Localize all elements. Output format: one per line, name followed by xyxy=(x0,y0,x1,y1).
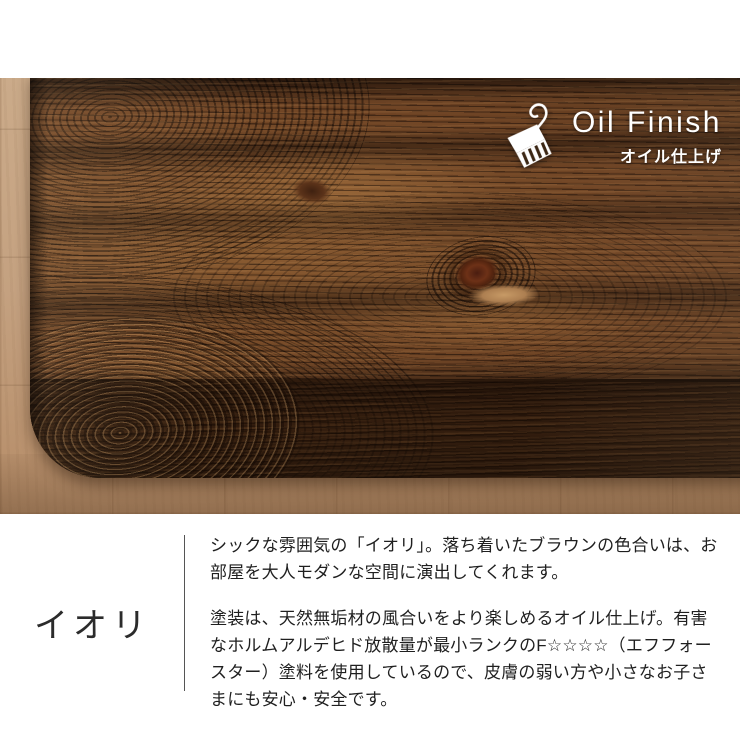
description-paragraph-2: 塗装は、天然無垢材の風合いをより楽しめるオイル仕上げ。有害なホルムアルデヒド放散… xyxy=(210,605,722,713)
top-white-band xyxy=(0,0,740,78)
product-feature-page: Oil Finish オイル仕上げ イオリ シックな雰囲気の「イオリ」。落ち着い… xyxy=(0,0,740,740)
description-paragraph-1: シックな雰囲気の「イオリ」。落ち着いたブラウンの色合いは、お部屋を大人モダンな空… xyxy=(210,532,722,586)
table-left-shadow xyxy=(30,78,48,478)
description-paragraphs: シックな雰囲気の「イオリ」。落ち着いたブラウンの色合いは、お部屋を大人モダンな空… xyxy=(210,532,722,713)
oil-finish-badge: Oil Finish オイル仕上げ xyxy=(500,102,722,172)
badge-text-group: Oil Finish オイル仕上げ xyxy=(572,107,722,168)
product-name: イオリ xyxy=(34,598,151,647)
badge-title: Oil Finish xyxy=(572,107,722,139)
paint-brush-icon xyxy=(492,95,571,178)
product-photo: Oil Finish オイル仕上げ xyxy=(0,78,740,514)
badge-subtitle: オイル仕上げ xyxy=(572,143,722,167)
description-section: イオリ シックな雰囲気の「イオリ」。落ち着いたブラウンの色合いは、お部屋を大人モ… xyxy=(0,514,740,740)
description-inner: イオリ シックな雰囲気の「イオリ」。落ち着いたブラウンの色合いは、お部屋を大人モ… xyxy=(0,514,740,740)
vertical-divider xyxy=(184,535,185,691)
